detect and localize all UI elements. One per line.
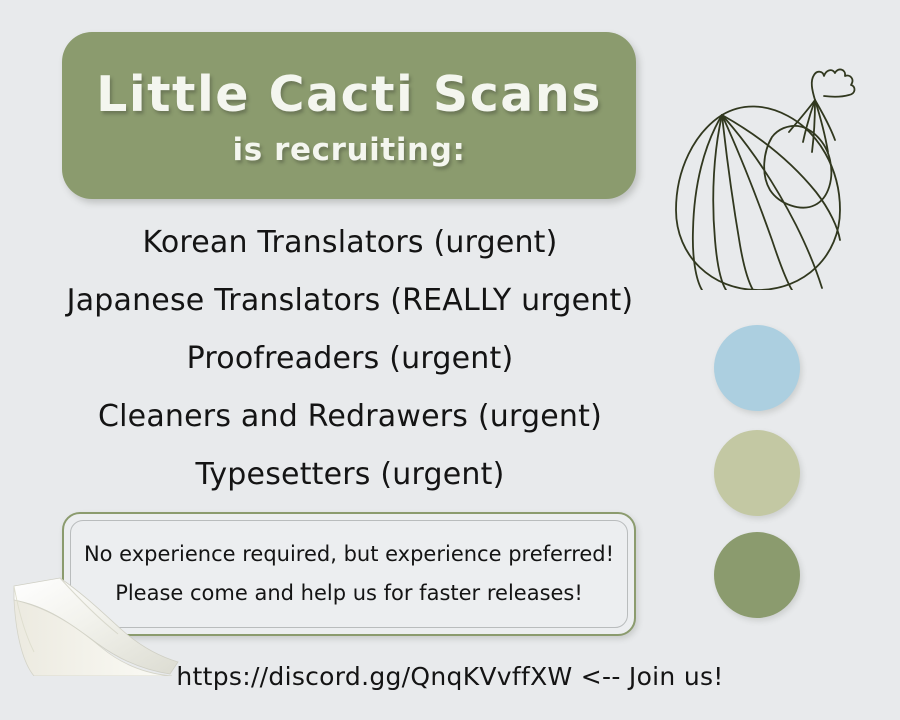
role-item: Japanese Translators (REALLY urgent): [67, 272, 634, 330]
color-swatch-blue: [714, 325, 800, 411]
header-banner: Little Cacti Scans is recruiting:: [62, 32, 636, 199]
ribbon-decoration: [0, 556, 194, 676]
role-item: Korean Translators (urgent): [142, 214, 557, 272]
page-subtitle: is recruiting:: [232, 135, 465, 166]
cactus-icon: [660, 40, 880, 290]
color-swatch-sage: [714, 430, 800, 516]
role-item: Cleaners and Redrawers (urgent): [98, 388, 602, 446]
recruitment-poster: Little Cacti Scans is recruiting: Korean…: [0, 0, 900, 720]
role-item: Typesetters (urgent): [196, 446, 505, 504]
page-title: Little Cacti Scans: [96, 70, 602, 119]
role-item: Proofreaders (urgent): [187, 330, 514, 388]
color-swatch-olive: [714, 532, 800, 618]
roles-list: Korean Translators (urgent) Japanese Tra…: [40, 214, 660, 504]
